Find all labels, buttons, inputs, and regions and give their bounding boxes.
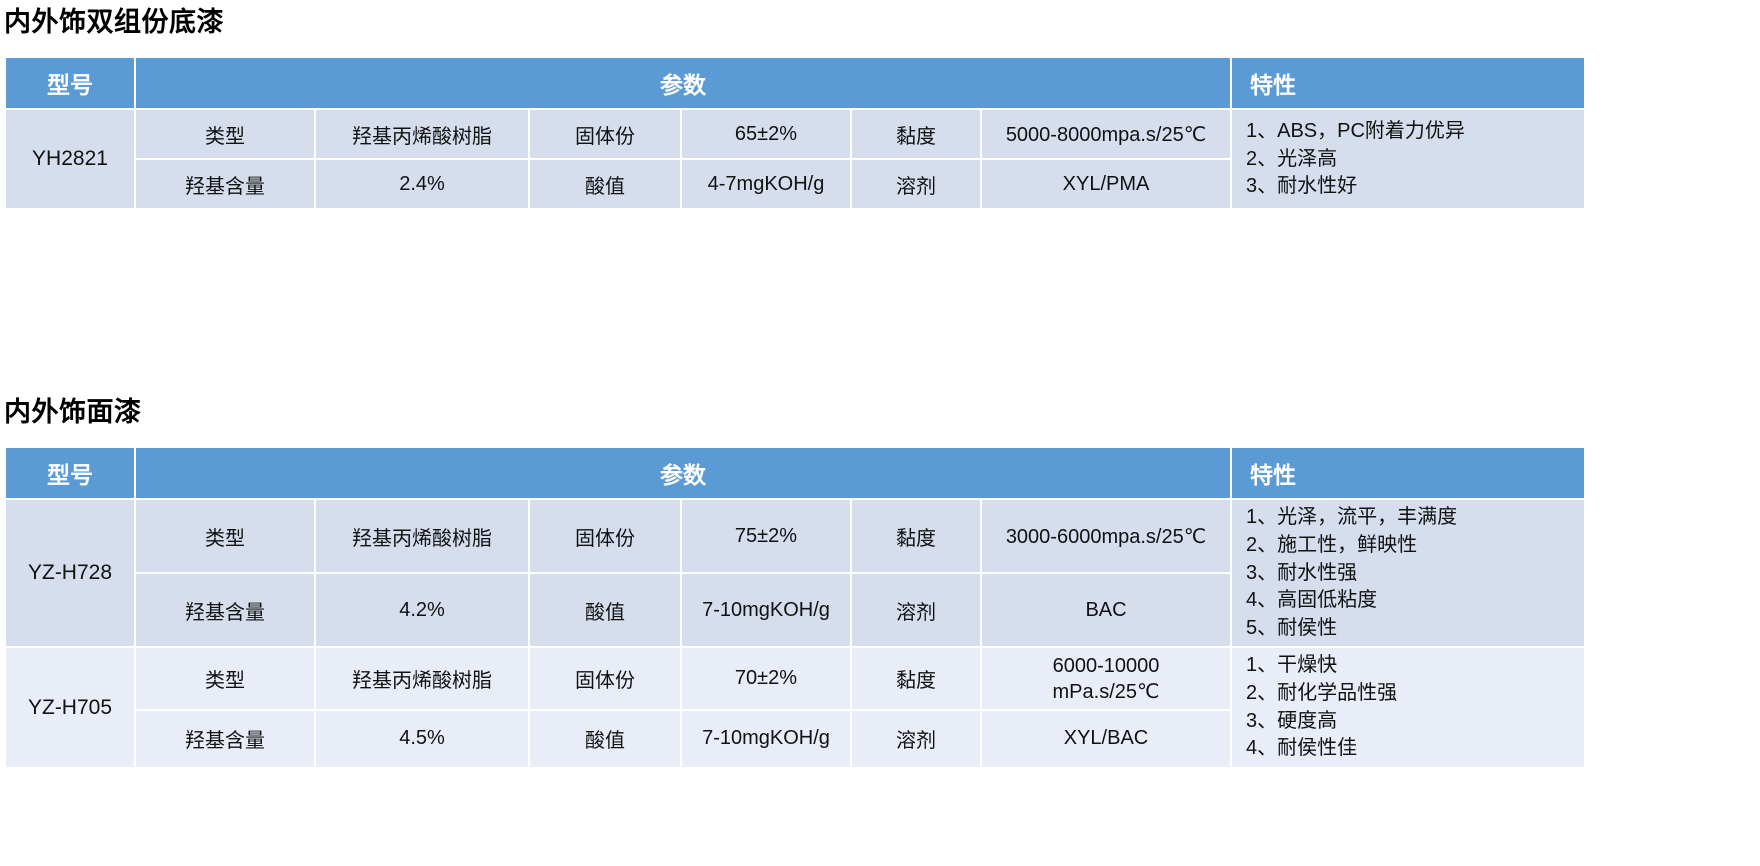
cell-param-value-3: 3000-6000mpa.s/25℃ bbox=[982, 500, 1230, 572]
feature-line: 3、耐水性强 bbox=[1246, 560, 1584, 588]
value-line: mPa.s/25℃ bbox=[982, 679, 1230, 705]
cell-param-value-2: 65±2% bbox=[682, 110, 850, 158]
cell-param-key-3: 黏度 bbox=[852, 110, 980, 158]
cell-param-value-2: 75±2% bbox=[682, 500, 850, 572]
cell-param-key-1: 类型 bbox=[136, 500, 314, 572]
feature-line: 1、光泽，流平，丰满度 bbox=[1246, 504, 1584, 532]
cell-param-value-1: 4.5% bbox=[316, 711, 528, 767]
cell-features: 1、ABS，PC附着力优异2、光泽高3、耐水性好 bbox=[1232, 110, 1584, 208]
cell-param-key-1: 羟基含量 bbox=[136, 711, 314, 767]
cell-param-key-2: 酸值 bbox=[530, 574, 680, 646]
table-header-row: 型号 参数 特性 bbox=[6, 448, 1584, 498]
col-header-features: 特性 bbox=[1232, 58, 1584, 108]
col-header-model: 型号 bbox=[6, 58, 134, 108]
spec-sheet-page: 内外饰双组份底漆 型号 参数 特性 YH2821 类型 羟基丙烯酸树脂 固体份 … bbox=[0, 0, 1760, 866]
feature-line: 1、ABS，PC附着力优异 bbox=[1246, 118, 1584, 146]
cell-param-value-3: BAC bbox=[982, 574, 1230, 646]
col-header-features: 特性 bbox=[1232, 448, 1584, 498]
table-row: YZ-H728 类型 羟基丙烯酸树脂 固体份 75±2% 黏度 3000-600… bbox=[6, 500, 1584, 572]
feature-line: 3、耐水性好 bbox=[1246, 173, 1584, 201]
feature-line: 1、干燥快 bbox=[1246, 652, 1584, 680]
cell-param-value-2: 7-10mgKOH/g bbox=[682, 711, 850, 767]
cell-param-value-1: 羟基丙烯酸树脂 bbox=[316, 110, 528, 158]
cell-model: YZ-H728 bbox=[6, 500, 134, 646]
feature-line: 2、耐化学品性强 bbox=[1246, 680, 1584, 708]
cell-features: 1、干燥快2、耐化学品性强3、硬度高4、耐侯性佳 bbox=[1232, 648, 1584, 766]
cell-param-key-3: 溶剂 bbox=[852, 711, 980, 767]
table-row: YH2821 类型 羟基丙烯酸树脂 固体份 65±2% 黏度 5000-8000… bbox=[6, 110, 1584, 158]
cell-param-key-3: 溶剂 bbox=[852, 574, 980, 646]
feature-line: 2、光泽高 bbox=[1246, 146, 1584, 174]
cell-param-key-3: 黏度 bbox=[852, 500, 980, 572]
cell-param-value-1: 4.2% bbox=[316, 574, 528, 646]
cell-param-key-3: 溶剂 bbox=[852, 160, 980, 208]
cell-param-key-2: 固体份 bbox=[530, 648, 680, 709]
table-header-row: 型号 参数 特性 bbox=[6, 58, 1584, 108]
cell-param-value-1: 2.4% bbox=[316, 160, 528, 208]
spec-section-primer: 内外饰双组份底漆 型号 参数 特性 YH2821 类型 羟基丙烯酸树脂 固体份 … bbox=[0, 0, 1572, 210]
value-line: 6000-10000 bbox=[982, 653, 1230, 679]
cell-param-value-3: 5000-8000mpa.s/25℃ bbox=[982, 110, 1230, 158]
cell-param-key-1: 羟基含量 bbox=[136, 574, 314, 646]
col-header-params: 参数 bbox=[136, 448, 1230, 498]
cell-param-key-2: 酸值 bbox=[530, 711, 680, 767]
spec-table-topcoat: 型号 参数 特性 YZ-H728 类型 羟基丙烯酸树脂 固体份 75±2% 黏度… bbox=[4, 446, 1586, 768]
cell-features: 1、光泽，流平，丰满度2、施工性，鲜映性3、耐水性强4、高固低粘度5、耐侯性 bbox=[1232, 500, 1584, 646]
feature-line: 4、高固低粘度 bbox=[1246, 587, 1584, 615]
section-title-topcoat: 内外饰面漆 bbox=[0, 390, 1572, 428]
cell-param-key-3: 黏度 bbox=[852, 648, 980, 709]
cell-param-value-2: 70±2% bbox=[682, 648, 850, 709]
col-header-params: 参数 bbox=[136, 58, 1230, 108]
cell-param-value-2: 4-7mgKOH/g bbox=[682, 160, 850, 208]
feature-line: 2、施工性，鲜映性 bbox=[1246, 532, 1584, 560]
cell-param-value-3: 6000-10000mPa.s/25℃ bbox=[982, 648, 1230, 709]
cell-param-key-2: 酸值 bbox=[530, 160, 680, 208]
spec-table-primer: 型号 参数 特性 YH2821 类型 羟基丙烯酸树脂 固体份 65±2% 黏度 … bbox=[4, 56, 1586, 210]
cell-param-key-1: 类型 bbox=[136, 648, 314, 709]
col-header-model: 型号 bbox=[6, 448, 134, 498]
cell-param-key-2: 固体份 bbox=[530, 500, 680, 572]
cell-model: YH2821 bbox=[6, 110, 134, 208]
feature-line: 5、耐侯性 bbox=[1246, 615, 1584, 643]
cell-param-value-3: XYL/PMA bbox=[982, 160, 1230, 208]
cell-param-value-1: 羟基丙烯酸树脂 bbox=[316, 648, 528, 709]
cell-param-value-3: XYL/BAC bbox=[982, 711, 1230, 767]
cell-param-key-2: 固体份 bbox=[530, 110, 680, 158]
feature-line: 4、耐侯性佳 bbox=[1246, 735, 1584, 763]
feature-line: 3、硬度高 bbox=[1246, 708, 1584, 736]
cell-param-value-2: 7-10mgKOH/g bbox=[682, 574, 850, 646]
section-title-primer: 内外饰双组份底漆 bbox=[0, 0, 1572, 38]
table-row: YZ-H705 类型 羟基丙烯酸树脂 固体份 70±2% 黏度 6000-100… bbox=[6, 648, 1584, 709]
cell-model: YZ-H705 bbox=[6, 648, 134, 766]
cell-param-key-1: 类型 bbox=[136, 110, 314, 158]
cell-param-value-1: 羟基丙烯酸树脂 bbox=[316, 500, 528, 572]
spec-section-topcoat: 内外饰面漆 型号 参数 特性 YZ-H728 类型 羟基丙烯酸树脂 固体份 bbox=[0, 390, 1572, 769]
cell-param-key-1: 羟基含量 bbox=[136, 160, 314, 208]
